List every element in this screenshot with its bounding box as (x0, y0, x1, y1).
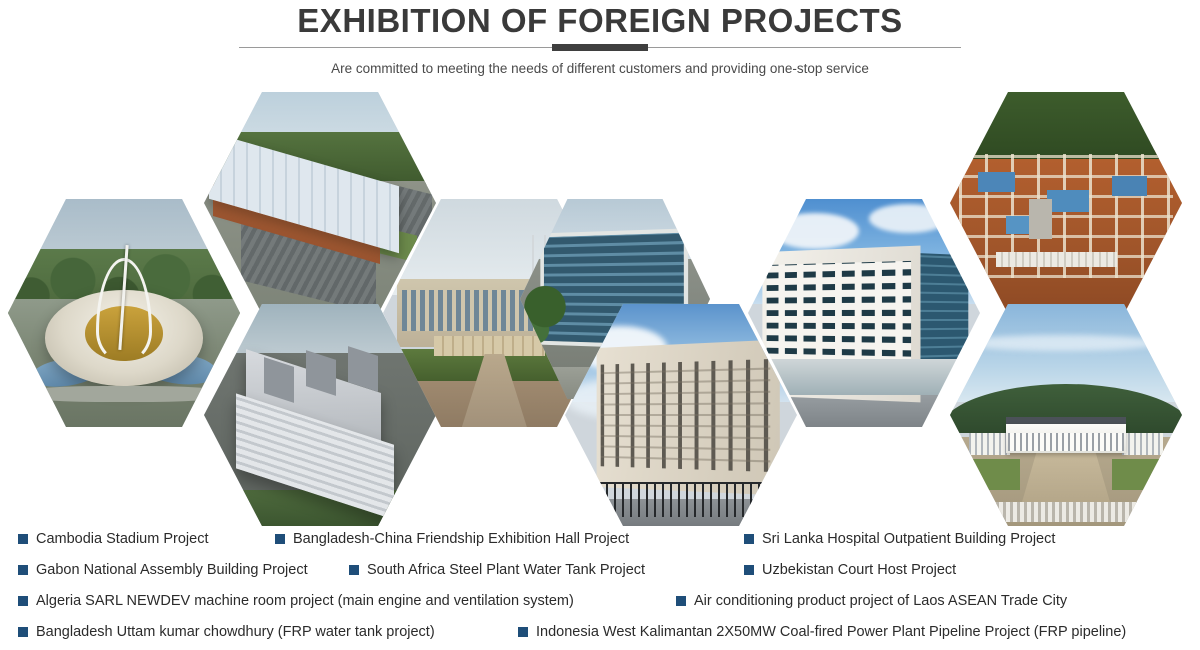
legend-item-label: Algeria SARL NEWDEV machine room project… (36, 592, 574, 610)
legend-item[interactable]: Indonesia West Kalimantan 2X50MW Coal-fi… (518, 620, 1126, 644)
page-title: EXHIBITION OF FOREIGN PROJECTS (0, 0, 1200, 40)
legend-row: Gabon National Assembly Building Project… (0, 558, 1200, 582)
legend-item[interactable]: Air conditioning product project of Laos… (676, 589, 1067, 613)
legend-item-label: Uzbekistan Court Host Project (762, 561, 956, 579)
legend-item-label: Gabon National Assembly Building Project (36, 561, 308, 579)
legend-row: Algeria SARL NEWDEV machine room project… (0, 589, 1200, 613)
bullet-square-icon (744, 534, 754, 544)
legend-row: Cambodia Stadium Project Bangladesh-Chin… (0, 527, 1200, 551)
bullet-square-icon (518, 627, 528, 637)
bullet-square-icon (18, 534, 28, 544)
project-legend: Cambodia Stadium Project Bangladesh-Chin… (0, 524, 1200, 650)
bullet-square-icon (744, 565, 754, 575)
project-photo-collage (0, 86, 1200, 524)
poster-root: EXHIBITION OF FOREIGN PROJECTS Are commi… (0, 0, 1200, 650)
legend-item[interactable]: Sri Lanka Hospital Outpatient Building P… (744, 527, 1055, 551)
legend-item[interactable]: Bangladesh-China Friendship Exhibition H… (275, 527, 629, 551)
legend-item-label: Sri Lanka Hospital Outpatient Building P… (762, 530, 1055, 548)
bullet-square-icon (18, 565, 28, 575)
photo-hex-indonesia-power-plant (950, 92, 1182, 314)
legend-item[interactable]: South Africa Steel Plant Water Tank Proj… (349, 558, 645, 582)
legend-row: Bangladesh Uttam kumar chowdhury (FRP wa… (0, 620, 1200, 644)
legend-item-label: Cambodia Stadium Project (36, 530, 208, 548)
legend-item[interactable]: Gabon National Assembly Building Project (18, 558, 308, 582)
photo-laos-asean-trade-city (950, 304, 1182, 526)
legend-item[interactable]: Algeria SARL NEWDEV machine room project… (18, 589, 574, 613)
page-subtitle: Are committed to meeting the needs of di… (0, 53, 1200, 78)
legend-item-label: Indonesia West Kalimantan 2X50MW Coal-fi… (536, 623, 1126, 641)
bullet-square-icon (18, 627, 28, 637)
photo-hex-cambodia-stadium (8, 199, 240, 427)
photo-cambodia-stadium (8, 199, 240, 427)
legend-item-label: Bangladesh-China Friendship Exhibition H… (293, 530, 629, 548)
legend-item[interactable]: Uzbekistan Court Host Project (744, 558, 956, 582)
legend-item[interactable]: Cambodia Stadium Project (18, 527, 208, 551)
legend-item-label: South Africa Steel Plant Water Tank Proj… (367, 561, 645, 579)
bullet-square-icon (18, 596, 28, 606)
header: EXHIBITION OF FOREIGN PROJECTS Are commi… (0, 0, 1200, 82)
photo-indonesia-power-plant (950, 92, 1182, 314)
title-divider (239, 43, 961, 53)
divider-accent (552, 44, 648, 51)
legend-item-label: Air conditioning product project of Laos… (694, 592, 1067, 610)
bullet-square-icon (676, 596, 686, 606)
bullet-square-icon (275, 534, 285, 544)
legend-item[interactable]: Bangladesh Uttam kumar chowdhury (FRP wa… (18, 620, 435, 644)
bullet-square-icon (349, 565, 359, 575)
photo-hex-laos-asean-trade-city (950, 304, 1182, 526)
legend-item-label: Bangladesh Uttam kumar chowdhury (FRP wa… (36, 623, 435, 641)
